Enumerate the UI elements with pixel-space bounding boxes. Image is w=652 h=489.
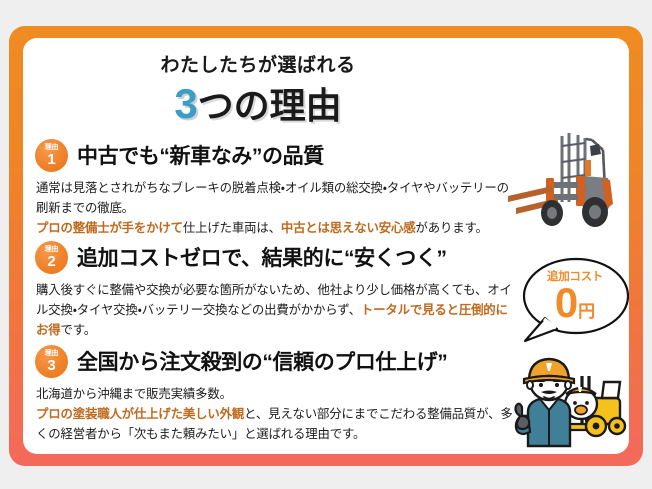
reason-1-text-plain-2: 仕上げた車両は、 <box>183 221 281 235</box>
reason-3-text-highlight-1: プロの塗装職人が仕上げた美しい外観 <box>36 407 244 421</box>
headline-subtitle: わたしたちが選ばれる <box>23 56 493 77</box>
page-title: わたしたちが選ばれる 3つの理由 <box>23 56 493 127</box>
forklift-photo <box>506 116 628 238</box>
worker-character <box>516 359 575 446</box>
speech-bubble-shape <box>519 256 629 348</box>
reason-badge-label: 理由 <box>45 144 58 151</box>
reason-3-header: 理由 3 全国から注文殺到の“信頼のプロ仕上げ” <box>35 344 513 378</box>
headline-rest: つの理由 <box>198 85 342 126</box>
worker-mascot-illustration <box>510 346 629 450</box>
reason-block-3: 理由 3 全国から注文殺到の“信頼のプロ仕上げ” 北海道から沖縄まで販売実績多数… <box>35 344 513 444</box>
reason-badge-label: 理由 <box>45 350 58 357</box>
reason-3-body: 北海道から沖縄まで販売実績多数。プロの塗装職人が仕上げた美しい外観と、見えない部… <box>36 384 513 444</box>
reason-1-text-plain-3: があります。 <box>415 221 487 235</box>
reason-2-body: 購入後すぐに整備や交換が必要な箇所がないため、他社より少し価格が高くても、オイル… <box>36 280 513 340</box>
reason-badge-number: 1 <box>47 152 55 167</box>
promo-graphic: わたしたちが選ばれる 3つの理由 理由 1 中古でも“新車なみ”の品質 通常は見… <box>0 0 652 489</box>
cartoon-forklift <box>565 376 625 436</box>
white-content-card: わたしたちが選ばれる 3つの理由 理由 1 中古でも“新車なみ”の品質 通常は見… <box>23 38 629 454</box>
reason-badge-1: 理由 1 <box>35 139 68 172</box>
reason-1-title: 中古でも“新車なみ”の品質 <box>77 140 324 170</box>
reason-block-1: 理由 1 中古でも“新車なみ”の品質 通常は見落とされがちなブレーキの脱着点検・… <box>35 138 513 238</box>
reason-block-2: 理由 2 追加コストゼロで、結果的に“安くつく” 購入後すぐに整備や交換が必要な… <box>35 240 513 340</box>
reason-1-text-plain-1: 通常は見落とされがちなブレーキの脱着点検・オイル類の総交換・タイヤやバッテリーの… <box>36 181 509 215</box>
reason-2-title: 追加コストゼロで、結果的に“安くつく” <box>77 242 447 272</box>
cost-speech-bubble: 追加コスト 0円 <box>519 256 629 348</box>
reason-1-header: 理由 1 中古でも“新車なみ”の品質 <box>35 138 513 172</box>
reason-1-body: 通常は見落とされがちなブレーキの脱着点検・オイル類の総交換・タイヤやバッテリーの… <box>36 178 513 238</box>
reason-badge-3: 理由 3 <box>35 345 68 378</box>
reason-badge-2: 理由 2 <box>35 241 68 274</box>
reason-badge-label: 理由 <box>45 246 58 253</box>
reason-2-header: 理由 2 追加コストゼロで、結果的に“安くつく” <box>35 240 513 274</box>
reason-1-text-highlight-1: プロの整備士が手をかけて <box>36 221 183 235</box>
reason-badge-number: 2 <box>47 254 55 269</box>
headline-main: 3つの理由 <box>23 81 493 127</box>
reason-3-title: 全国から注文殺到の“信頼のプロ仕上げ” <box>77 346 447 376</box>
reason-badge-number: 3 <box>47 358 55 373</box>
reason-3-text-plain-1: 北海道から沖縄まで販売実績多数。 <box>36 387 232 401</box>
headline-number: 3 <box>174 80 197 127</box>
reason-1-text-highlight-2: 中古とは思えない安心感 <box>281 221 416 235</box>
reason-2-text-plain-2: です。 <box>60 323 95 337</box>
